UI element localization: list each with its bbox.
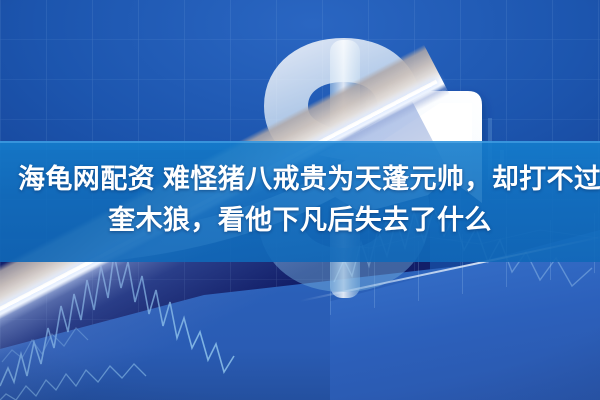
headline-line-1: 海龟网配资 难怪猪八戒贵为天蓬元帅，却打不过 — [14, 159, 586, 200]
headline-text-block: 海龟网配资 难怪猪八戒贵为天蓬元帅，却打不过 奎木狼，看他下凡后失去了什么 — [0, 141, 600, 262]
banner-image: 海龟网配资 难怪猪八戒贵为天蓬元帅，却打不过 奎木狼，看他下凡后失去了什么 — [0, 0, 600, 400]
headline-line-2: 奎木狼，看他下凡后失去了什么 — [14, 200, 586, 241]
